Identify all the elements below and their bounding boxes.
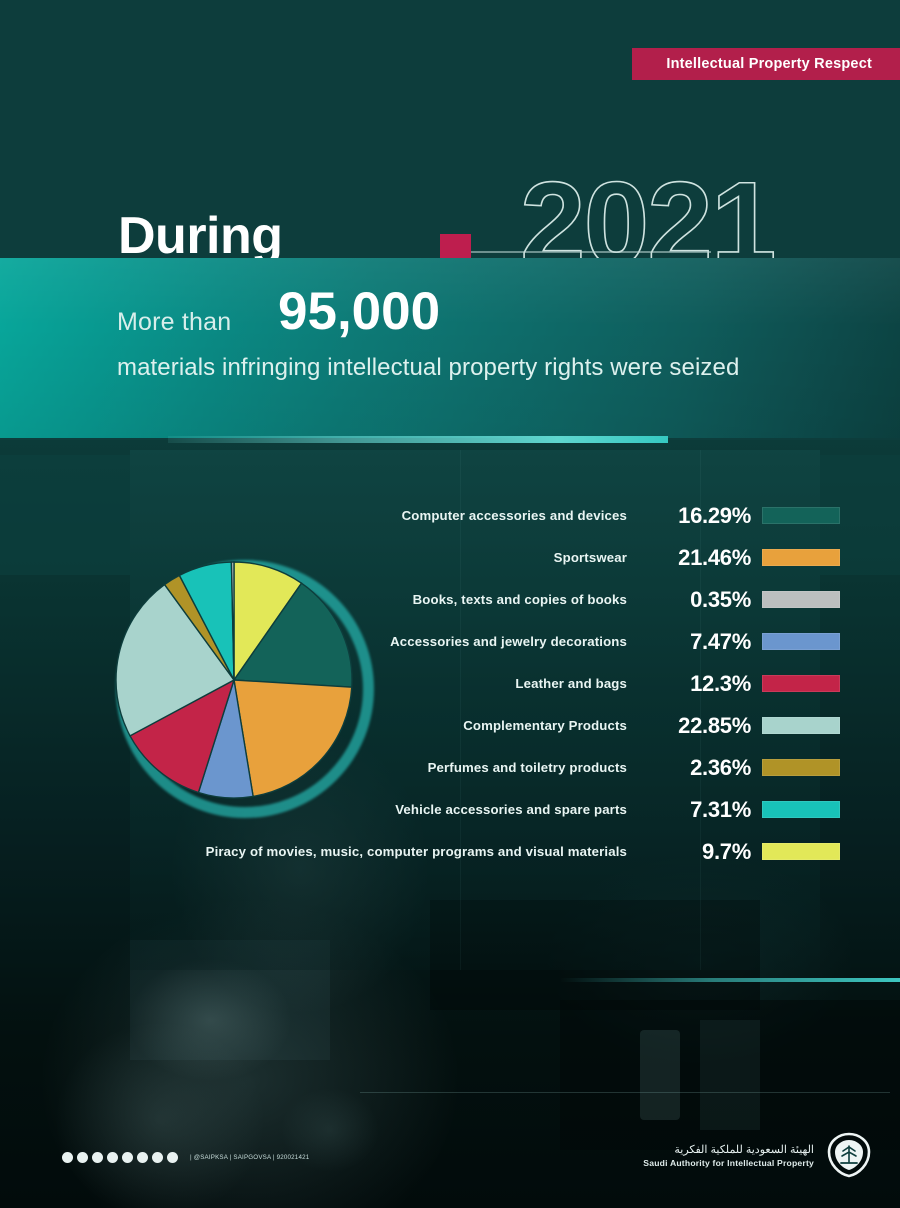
legend-value: 22.85% [639, 713, 751, 739]
legend-swatch [762, 801, 840, 818]
social-links[interactable]: | @SAIPKSA | SAIPGOVSA | 920021421 [62, 1152, 309, 1163]
cyan-accent-bar-lower [560, 978, 900, 982]
legend-value: 16.29% [639, 503, 751, 529]
legend-swatch [762, 507, 840, 524]
footer-divider [360, 1092, 890, 1093]
legend-value: 7.31% [639, 797, 751, 823]
legend-swatch [762, 633, 840, 650]
headline-band-sheen [0, 258, 900, 438]
legend-value: 9.7% [639, 839, 751, 865]
legend-row: Vehicle accessories and spare parts7.31% [150, 791, 840, 828]
legend-row: Leather and bags12.3% [150, 665, 840, 702]
accent-rule [471, 251, 711, 253]
legend-row: Computer accessories and devices16.29% [150, 497, 840, 534]
subtitle: materials infringing intellectual proper… [117, 354, 739, 382]
legend-row: Perfumes and toiletry products2.36% [150, 749, 840, 786]
legend-label: Perfumes and toiletry products [428, 760, 627, 775]
telegram-icon[interactable] [152, 1152, 163, 1163]
twitter-icon[interactable] [77, 1152, 88, 1163]
legend-value: 0.35% [639, 587, 751, 613]
legend-label: Sportswear [554, 550, 627, 565]
snapchat-icon[interactable] [137, 1152, 148, 1163]
legend-label: Computer accessories and devices [402, 508, 627, 523]
legend-row: Accessories and jewelry decorations7.47% [150, 623, 840, 660]
legend-value: 7.47% [639, 629, 751, 655]
legend-swatch [762, 717, 840, 734]
legend-label: Books, texts and copies of books [413, 592, 627, 607]
legend-label: Vehicle accessories and spare parts [395, 802, 627, 817]
page-title: During [118, 206, 283, 266]
more-than-label: More than [117, 308, 231, 337]
chart-legend: Computer accessories and devices16.29%Sp… [150, 497, 840, 875]
legend-value: 2.36% [639, 755, 751, 781]
legend-label: Accessories and jewelry decorations [390, 634, 627, 649]
status-badge: Intellectual Property Respect [632, 48, 900, 80]
legend-value: 21.46% [639, 545, 751, 571]
legend-row: Books, texts and copies of books0.35% [150, 581, 840, 618]
legend-swatch [762, 843, 840, 860]
youtube-icon[interactable] [92, 1152, 103, 1163]
cyan-accent-bar [168, 436, 668, 443]
legend-label: Complementary Products [463, 718, 627, 733]
legend-swatch [762, 591, 840, 608]
background-light-block [700, 1020, 760, 1130]
legend-label: Piracy of movies, music, computer progra… [206, 844, 627, 859]
brand-lockup: الهيئة السعودية للملكية الفكرية Saudi Au… [643, 1132, 872, 1178]
legend-swatch [762, 759, 840, 776]
legend-swatch [762, 549, 840, 566]
legend-row: Piracy of movies, music, computer progra… [150, 833, 840, 870]
brand-name-english: Saudi Authority for Intellectual Propert… [643, 1158, 814, 1168]
legend-label: Leather and bags [515, 676, 627, 691]
legend-swatch [762, 675, 840, 692]
legend-row: Complementary Products22.85% [150, 707, 840, 744]
legend-value: 12.3% [639, 671, 751, 697]
background-light-block [640, 1030, 680, 1120]
brand-name-arabic: الهيئة السعودية للملكية الفكرية [643, 1143, 814, 1156]
legend-row: Sportswear21.46% [150, 539, 840, 576]
facebook-icon[interactable] [62, 1152, 73, 1163]
tiktok-icon[interactable] [167, 1152, 178, 1163]
linkedin-icon[interactable] [122, 1152, 133, 1163]
social-handles: | @SAIPKSA | SAIPGOVSA | 920021421 [190, 1154, 309, 1161]
big-number: 95,000 [278, 281, 440, 342]
saip-shield-logo-icon [826, 1132, 872, 1178]
instagram-icon[interactable] [107, 1152, 118, 1163]
